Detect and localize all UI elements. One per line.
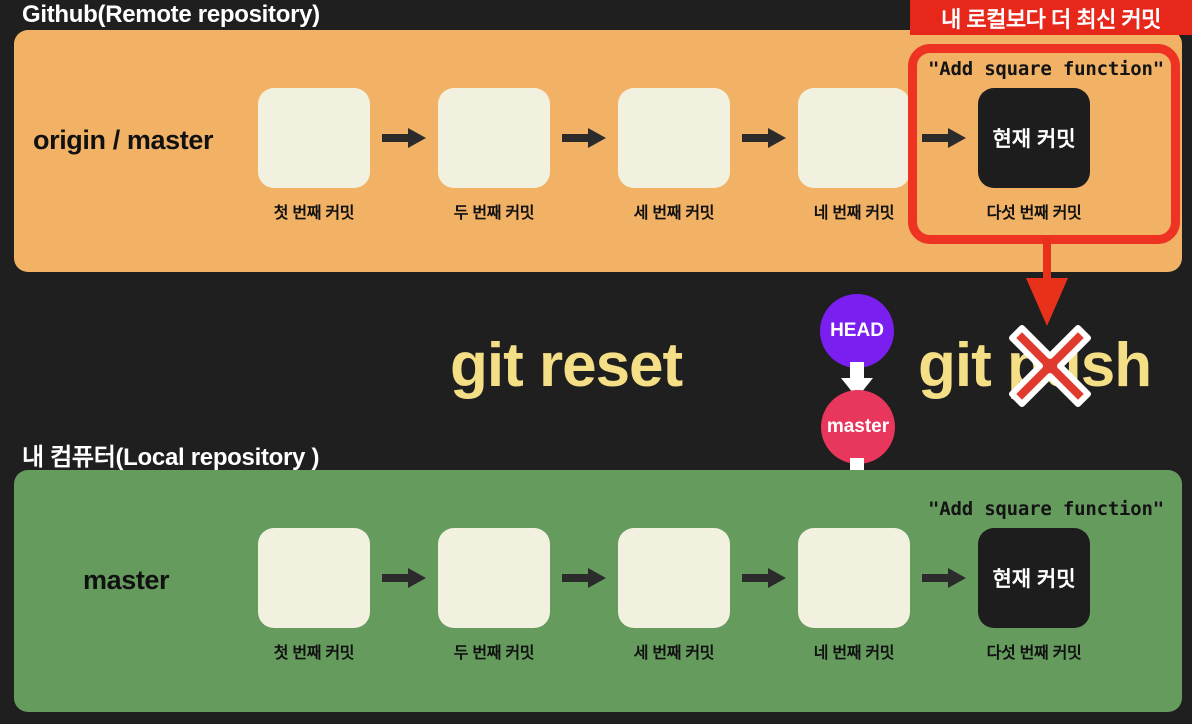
commit-node[interactable]: 두 번째 커밋 [438,88,550,223]
commit-node[interactable]: 세 번째 커밋 [618,88,730,223]
commit-node[interactable]: 첫 번째 커밋 [258,528,370,663]
commit-link-arrow-icon [550,88,618,188]
commit-box[interactable] [438,88,550,188]
commit-node[interactable]: 첫 번째 커밋 [258,88,370,223]
commit-node[interactable]: 네 번째 커밋 [798,88,910,223]
commit-box[interactable] [798,528,910,628]
commit-link-arrow-icon [550,528,618,628]
commit-caption: 두 번째 커밋 [454,639,534,663]
git-reset-label: git reset [450,330,682,401]
diagram-canvas: Github(Remote repository) origin / maste… [0,0,1192,724]
commit-link-arrow-icon [370,528,438,628]
local-commit-message: "Add square function" [928,498,1164,520]
commit-node[interactable]: 두 번째 커밋 [438,528,550,663]
commit-caption: 네 번째 커밋 [814,199,894,223]
remote-commit-chain: 첫 번째 커밋 두 번째 커밋 세 번째 커밋 네 [258,88,1090,223]
commit-caption: 다섯 번째 커밋 [987,199,1082,223]
commit-caption: 다섯 번째 커밋 [987,639,1082,663]
commit-caption: 첫 번째 커밋 [274,639,354,663]
master-branch-label: master [83,565,169,596]
commit-caption: 네 번째 커밋 [814,639,894,663]
cross-out-icon [1008,324,1092,408]
commit-caption: 세 번째 커밋 [634,639,714,663]
remote-commit-message: "Add square function" [928,58,1164,80]
origin-master-branch-label: origin / master [33,125,213,156]
local-commit-chain: 첫 번째 커밋 두 번째 커밋 세 번째 커밋 네 [258,528,1090,663]
commit-box[interactable] [618,88,730,188]
commit-link-arrow-icon [910,88,978,188]
commit-box[interactable] [258,528,370,628]
remote-repository-title: Github(Remote repository) [22,1,320,29]
commit-box[interactable] [438,528,550,628]
local-repository-title: 내 컴퓨터(Local repository ) [22,437,319,472]
current-commit-node[interactable]: 현재 커밋 다섯 번째 커밋 [978,88,1090,223]
commit-caption: 첫 번째 커밋 [274,199,354,223]
commit-link-arrow-icon [730,88,798,188]
current-commit-node[interactable]: 현재 커밋 다섯 번째 커밋 [978,528,1090,663]
commit-box[interactable] [258,88,370,188]
commit-caption: 두 번째 커밋 [454,199,534,223]
commit-link-arrow-icon [730,528,798,628]
commit-box[interactable] [798,88,910,188]
head-pointer-badge[interactable]: HEAD [820,294,894,368]
current-commit-box[interactable]: 현재 커밋 [978,88,1090,188]
push-rejected-arrow-icon [1018,238,1076,330]
commit-link-arrow-icon [370,88,438,188]
commit-node[interactable]: 네 번째 커밋 [798,528,910,663]
commit-link-arrow-icon [910,528,978,628]
commit-box[interactable] [618,528,730,628]
commit-node[interactable]: 세 번째 커밋 [618,528,730,663]
current-commit-box[interactable]: 현재 커밋 [978,528,1090,628]
commit-caption: 세 번째 커밋 [634,199,714,223]
master-pointer-badge[interactable]: master [821,390,895,464]
alert-banner: 내 로컬보다 더 최신 커밋 [910,0,1192,35]
